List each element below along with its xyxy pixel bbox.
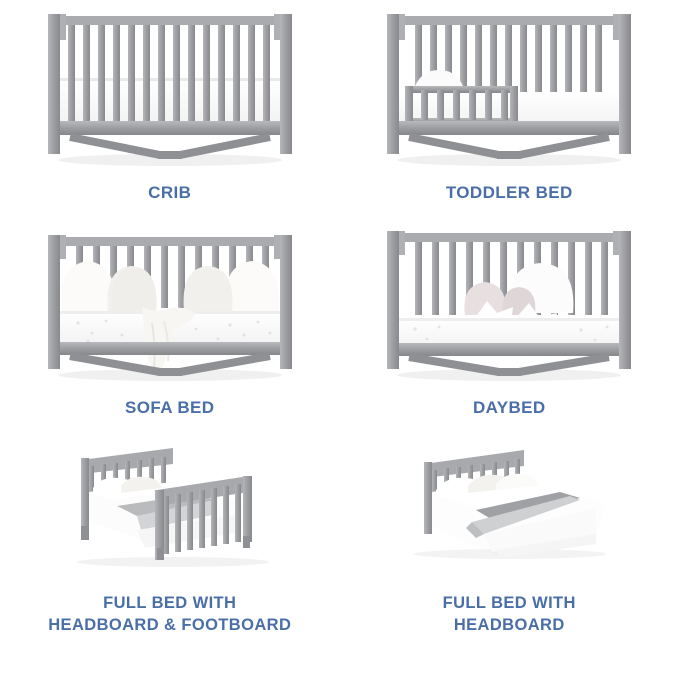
sofa-bed-label: SOFA BED <box>125 397 214 420</box>
daybed-label: DAYBED <box>473 397 546 420</box>
toddler-bed-illustration <box>369 0 649 178</box>
option-sofa-bed: SOFA BED <box>0 215 340 430</box>
full-bed-headboard-footboard-illustration <box>45 430 295 580</box>
option-crib: CRIB <box>0 0 340 215</box>
crib-figure <box>0 0 340 178</box>
option-full-bed-headboard: FULL BED WITH HEADBOARD <box>340 430 679 679</box>
full-bed-headboard-footboard-figure <box>0 430 340 580</box>
option-daybed: DAYBED <box>340 215 679 430</box>
conversion-options-grid: CRIB <box>0 0 679 679</box>
full-bed-headboard-figure <box>340 430 679 580</box>
crib-label: CRIB <box>148 182 191 205</box>
toddler-bed-label: TODDLER BED <box>446 182 573 205</box>
daybed-illustration <box>369 215 649 393</box>
option-toddler-bed: TODDLER BED <box>340 0 679 215</box>
full-bed-headboard-footboard-label: FULL BED WITH HEADBOARD & FOOTBOARD <box>48 592 291 637</box>
toddler-bed-figure <box>340 0 679 178</box>
full-bed-headboard-illustration <box>384 430 634 580</box>
sofa-bed-illustration <box>30 215 310 393</box>
daybed-figure <box>340 215 679 393</box>
option-full-bed-headboard-footboard: FULL BED WITH HEADBOARD & FOOTBOARD <box>0 430 340 679</box>
full-bed-headboard-label: FULL BED WITH HEADBOARD <box>443 592 576 637</box>
sofa-bed-figure <box>0 215 340 393</box>
crib-illustration <box>30 0 310 178</box>
